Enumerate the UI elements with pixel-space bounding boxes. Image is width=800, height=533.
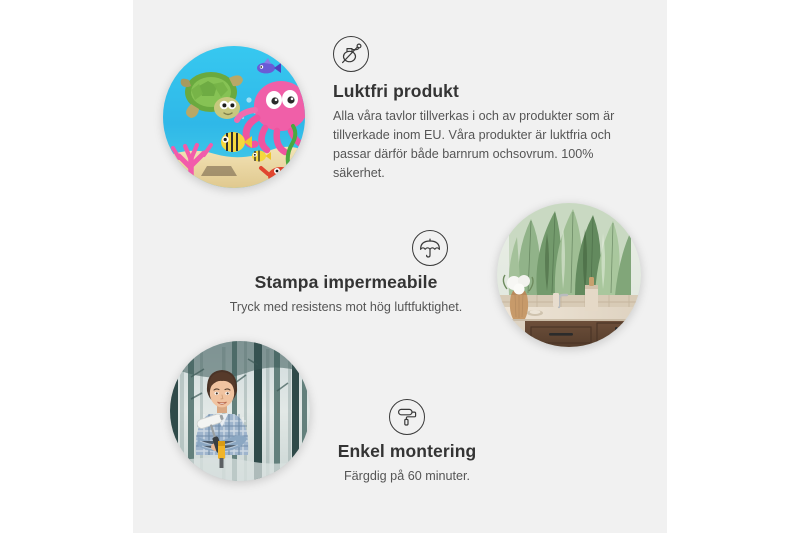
feature-assembly-title: Enkel montering (313, 441, 501, 463)
feature-odourless-description: Alla våra tavlor tillverkas i och av pro… (333, 107, 629, 183)
bathroom-vanity-photo (497, 203, 641, 347)
paint-roller-icon (389, 399, 425, 435)
painter-forest-photo (170, 341, 310, 481)
feature-assembly-description: Färgdig på 60 minuter. (313, 467, 501, 486)
feature-waterproof-text: Stampa impermeabile Tryck med resistens … (215, 272, 477, 317)
feature-assembly-text: Enkel montering Färgdig på 60 minuter. (313, 441, 501, 486)
underwater-scene-photo (163, 46, 305, 188)
feature-odourless-text: Luktfri produkt Alla våra tavlor tillver… (333, 81, 629, 182)
promo-feature-panel: Luktfri produkt Alla våra tavlor tillver… (0, 0, 800, 533)
feature-odourless-title: Luktfri produkt (333, 81, 629, 103)
umbrella-icon (412, 230, 448, 266)
feature-waterproof-description: Tryck med resistens mot hög luftfuktighe… (215, 298, 477, 317)
feature-waterproof-title: Stampa impermeabile (215, 272, 477, 294)
no-fragrance-icon (333, 36, 369, 72)
